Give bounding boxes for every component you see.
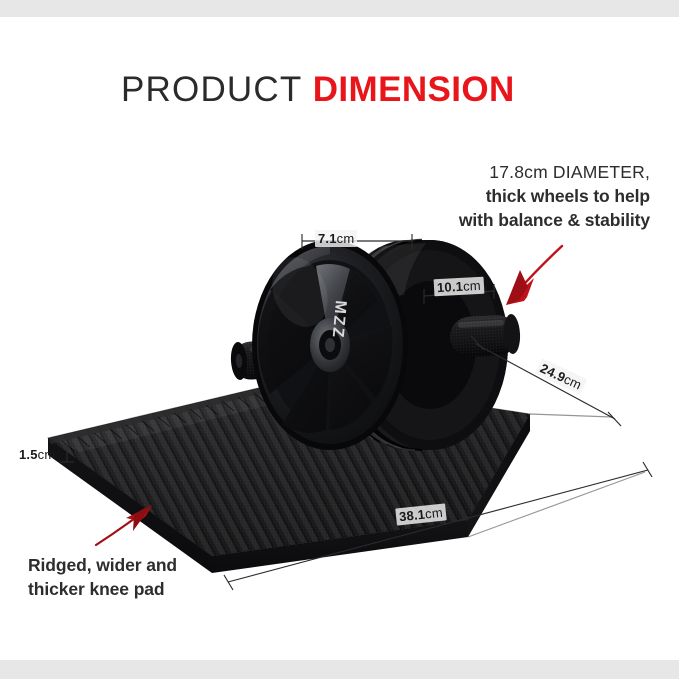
wheel-callout-line-1: 17.8cm DIAMETER, — [459, 160, 650, 184]
dimension-value-38-1: 38.1 — [398, 507, 426, 525]
wheel-callout: 17.8cm DIAMETER, thick wheels to help wi… — [459, 160, 650, 232]
right-foam-handle — [449, 314, 521, 358]
dimension-unit-1-5: cm — [38, 447, 56, 462]
dimension-value-7-1: 7.1 — [318, 231, 337, 246]
arrow-to-knee-pad — [96, 505, 152, 545]
dimension-unit-10-1: cm — [463, 278, 481, 294]
dimension-value-1-5: 1.5 — [19, 447, 38, 462]
dimension-label-1-5cm: 1.5cm — [16, 446, 58, 463]
arrow-to-wheel — [506, 246, 562, 305]
knee-pad-callout-line-1: Ridged, wider and — [28, 553, 177, 577]
dimension-label-10-1cm: 10.1cm — [434, 277, 485, 297]
wheel-face — [252, 240, 408, 450]
infographic-canvas: PRODUCT DIMENSION — [0, 0, 679, 679]
knee-pad-callout-line-2: thicker knee pad — [28, 577, 177, 601]
dimension-label-7-1cm: 7.1cm — [315, 230, 357, 247]
wheel-logo: MZZ — [329, 300, 349, 340]
dimension-unit-7-1: cm — [337, 231, 355, 246]
dimension-unit-38-1: cm — [424, 505, 443, 522]
wheel-callout-line-2: thick wheels to help — [459, 184, 650, 208]
knee-pad-callout: Ridged, wider and thicker knee pad — [28, 553, 177, 601]
dimension-value-10-1: 10.1 — [437, 279, 464, 295]
wheel-callout-line-3: with balance & stability — [459, 208, 650, 232]
